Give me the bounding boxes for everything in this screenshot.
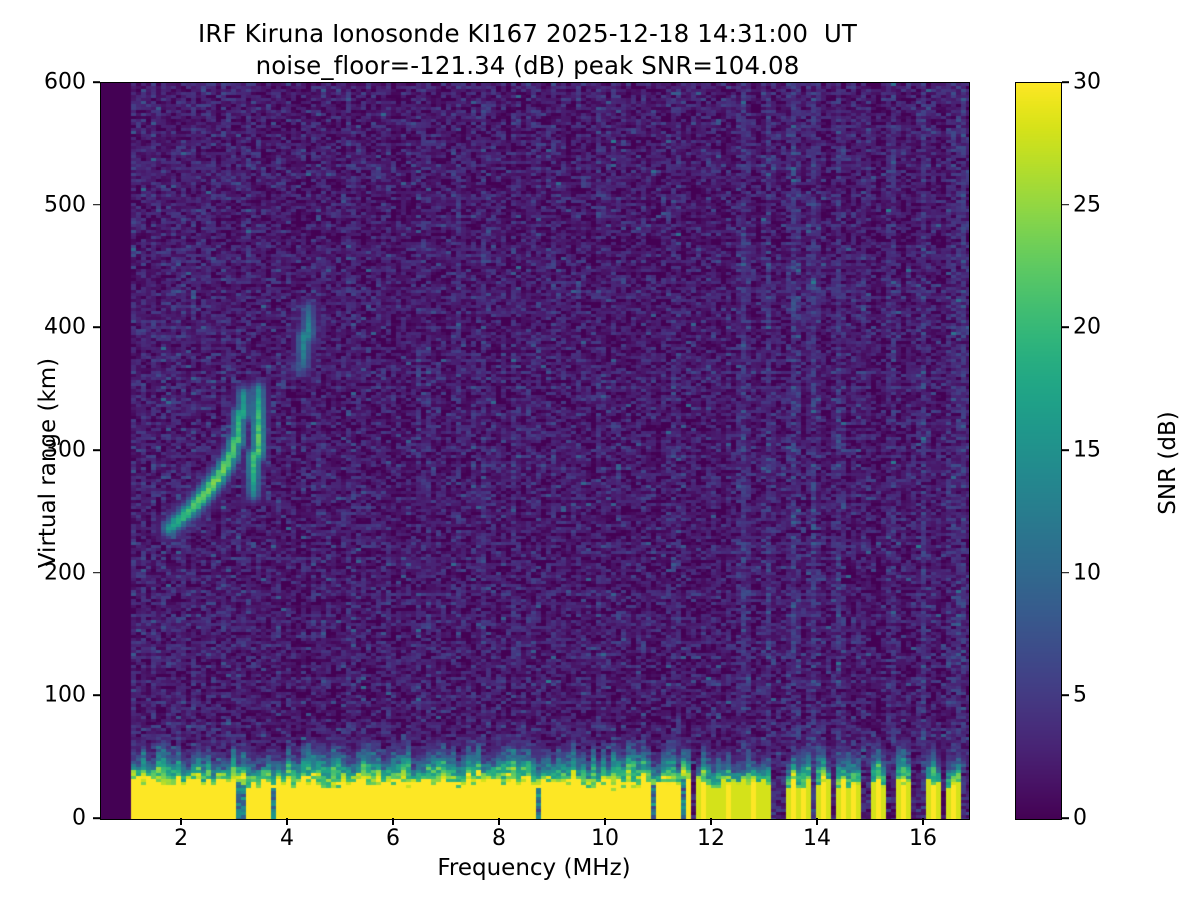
y-tick-mark [93, 695, 100, 697]
colorbar-tick-mark [1062, 204, 1069, 206]
x-tick-label: 16 [878, 826, 968, 851]
y-tick-label: 0 [0, 806, 86, 831]
x-tick-mark [710, 818, 712, 825]
colorbar-tick-mark [1062, 81, 1069, 83]
chart-title: IRF Kiruna Ionosonde KI167 2025-12-18 14… [0, 18, 1055, 50]
x-tick-mark [286, 818, 288, 825]
y-tick-mark [93, 449, 100, 451]
y-tick-mark [93, 817, 100, 819]
x-tick-mark [180, 818, 182, 825]
y-tick-mark [93, 81, 100, 83]
chart-subtitle: noise_floor=-121.34 (dB) peak SNR=104.08 [0, 50, 1055, 82]
colorbar-gradient [1016, 83, 1061, 819]
x-tick-mark [392, 818, 394, 825]
y-tick-mark [93, 204, 100, 206]
x-tick-label: 2 [136, 826, 226, 851]
x-tick-label: 12 [666, 826, 756, 851]
colorbar-tick-label: 0 [1073, 806, 1087, 831]
x-tick-mark [604, 818, 606, 825]
x-tick-mark [816, 818, 818, 825]
colorbar[interactable] [1015, 82, 1062, 820]
colorbar-tick-label: 20 [1073, 315, 1101, 340]
colorbar-tick-label: 25 [1073, 192, 1101, 217]
colorbar-tick-label: 5 [1073, 683, 1087, 708]
y-tick-mark [93, 327, 100, 329]
colorbar-label: SNR (dB) [1155, 253, 1181, 673]
x-tick-label: 4 [242, 826, 332, 851]
y-tick-mark [93, 572, 100, 574]
y-axis-label: Virtual range (km) [35, 183, 61, 743]
colorbar-tick-mark [1062, 695, 1069, 697]
x-tick-mark [498, 818, 500, 825]
colorbar-tick-mark [1062, 449, 1069, 451]
colorbar-tick-label: 30 [1073, 70, 1101, 95]
x-tick-label: 6 [348, 826, 438, 851]
plot-area[interactable] [100, 82, 970, 820]
chart-title-block: IRF Kiruna Ionosonde KI167 2025-12-18 14… [0, 18, 1055, 82]
x-tick-label: 14 [772, 826, 862, 851]
colorbar-tick-mark [1062, 817, 1069, 819]
colorbar-tick-mark [1062, 327, 1069, 329]
x-tick-label: 10 [560, 826, 650, 851]
x-tick-label: 8 [454, 826, 544, 851]
colorbar-tick-label: 15 [1073, 438, 1101, 463]
ionogram-heatmap[interactable] [101, 83, 969, 819]
x-axis-label: Frequency (MHz) [100, 855, 968, 881]
x-tick-mark [922, 818, 924, 825]
y-tick-label: 600 [0, 70, 86, 95]
colorbar-tick-mark [1062, 572, 1069, 574]
colorbar-tick-label: 10 [1073, 560, 1101, 585]
ionogram-figure: IRF Kiruna Ionosonde KI167 2025-12-18 14… [0, 0, 1200, 900]
